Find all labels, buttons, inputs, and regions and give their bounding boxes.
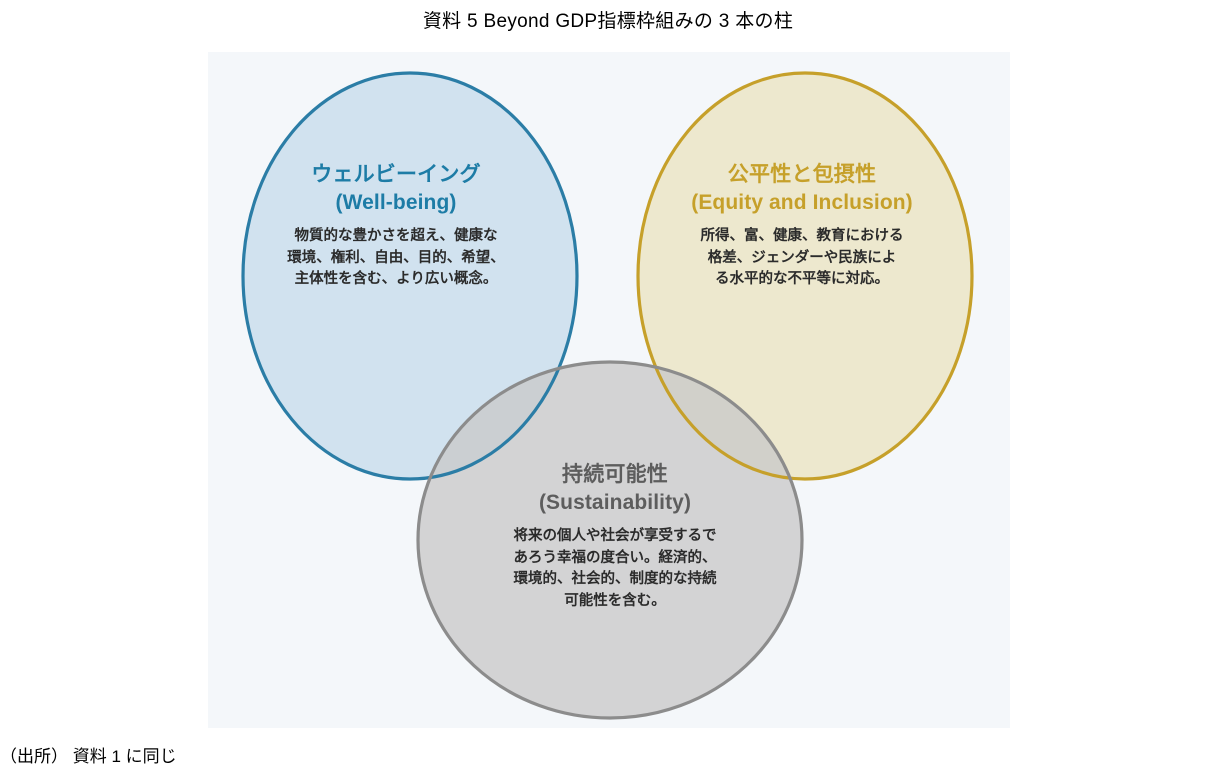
venn-label-sustainability: 持続可能性 (Sustainability) 将来の個人や社会が享受するで あろ… [436, 462, 794, 613]
equity-heading-ja: 公平性と包摂性 [626, 162, 978, 189]
sustainability-heading-en: (Sustainability) [436, 490, 794, 517]
wellbeing-heading-ja: ウェルビーイング [226, 162, 566, 189]
equity-body-line: 所得、富、健康、教育における [626, 226, 978, 248]
sustainability-body-line: 環境的、社会的、制度的な持続 [436, 569, 794, 591]
sustainability-body-line: あろう幸福の度合い。経済的、 [436, 548, 794, 570]
figure-title: 資料 5 Beyond GDP指標枠組みの 3 本の柱 [0, 6, 1216, 33]
venn-diagram-panel: ウェルビーイング (Well-being) 物質的な豊かさを超え、健康な 環境、… [208, 52, 1010, 728]
sustainability-body: 将来の個人や社会が享受するで あろう幸福の度合い。経済的、 環境的、社会的、制度… [436, 526, 794, 613]
equity-body-line: 格差、ジェンダーや民族によ [626, 248, 978, 270]
wellbeing-heading-en: (Well-being) [226, 190, 566, 217]
sustainability-body-line: 将来の個人や社会が享受するで [436, 526, 794, 548]
equity-heading-en: (Equity and Inclusion) [626, 190, 978, 217]
venn-label-equity: 公平性と包摂性 (Equity and Inclusion) 所得、富、健康、教… [626, 162, 978, 291]
equity-body: 所得、富、健康、教育における 格差、ジェンダーや民族によ る水平的な不平等に対応… [626, 226, 978, 291]
equity-body-line: る水平的な不平等に対応。 [626, 269, 978, 291]
sustainability-heading-ja: 持続可能性 [436, 462, 794, 489]
wellbeing-body: 物質的な豊かさを超え、健康な 環境、権利、自由、目的、希望、 主体性を含む、より… [226, 226, 566, 291]
source-note: （出所） 資料 1 に同じ [0, 742, 177, 767]
venn-diagram-svg [208, 52, 1010, 728]
sustainability-body-line: 可能性を含む。 [436, 591, 794, 613]
wellbeing-body-line: 環境、権利、自由、目的、希望、 [226, 248, 566, 270]
wellbeing-body-line: 主体性を含む、より広い概念。 [226, 269, 566, 291]
wellbeing-body-line: 物質的な豊かさを超え、健康な [226, 226, 566, 248]
venn-label-wellbeing: ウェルビーイング (Well-being) 物質的な豊かさを超え、健康な 環境、… [226, 162, 566, 291]
